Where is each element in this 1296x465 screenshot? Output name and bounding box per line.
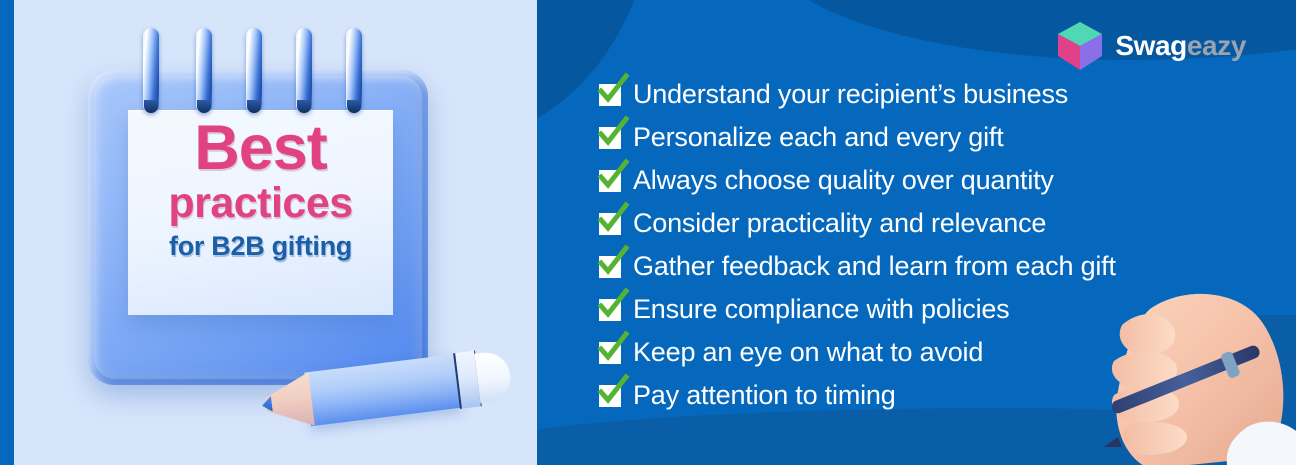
list-item-label: Gather feedback and learn from each gift (633, 253, 1116, 280)
green-checkmark-icon (599, 84, 621, 106)
notepad-title-block: Best practices for B2B gifting (128, 118, 393, 261)
brand-logo[interactable]: Swageazy (1056, 21, 1246, 71)
list-item: Understand your recipient’s business (599, 73, 1289, 116)
spiral-ring-icon (196, 28, 212, 113)
swageazy-cube-icon (1056, 21, 1104, 71)
title-line-1: Best (128, 118, 393, 180)
pencil-eraser (474, 350, 513, 404)
title-line-2: practices (128, 182, 393, 226)
list-item-label: Personalize each and every gift (633, 124, 1004, 151)
list-item-label: Understand your recipient’s business (633, 81, 1068, 108)
infographic-banner: Best practices for B2B gifting Swageaz (0, 0, 1296, 465)
green-checkmark-icon (599, 127, 621, 149)
spiral-ring-icon (143, 28, 159, 113)
list-item: Always choose quality over quantity (599, 159, 1289, 202)
brand-name-secondary: eazy (1187, 30, 1246, 61)
brand-name-primary: Swag (1115, 30, 1187, 61)
green-checkmark-icon (599, 256, 621, 278)
left-panel: Best practices for B2B gifting (0, 0, 537, 465)
green-checkmark-icon (599, 385, 621, 407)
green-checkmark-icon (599, 299, 621, 321)
right-panel: Swageazy Understand your recipient’s bus… (537, 0, 1296, 465)
green-checkmark-icon (599, 170, 621, 192)
spiral-ring-icon (346, 28, 362, 113)
list-item-label: Pay attention to timing (633, 382, 896, 409)
title-line-3: for B2B gifting (128, 232, 393, 262)
spiral-ring-icon (246, 28, 262, 113)
hand-holding-pen-icon (1092, 281, 1296, 465)
list-item: Consider practicality and relevance (599, 202, 1289, 245)
green-checkmark-icon (599, 342, 621, 364)
left-accent-stripe (0, 0, 14, 465)
spiral-ring-icon (296, 28, 312, 113)
green-checkmark-icon (599, 213, 621, 235)
notepad-illustration: Best practices for B2B gifting (88, 70, 428, 385)
list-item-label: Always choose quality over quantity (633, 167, 1054, 194)
list-item-label: Ensure compliance with policies (633, 296, 1009, 323)
list-item: Personalize each and every gift (599, 116, 1289, 159)
list-item-label: Keep an eye on what to avoid (633, 339, 983, 366)
list-item-label: Consider practicality and relevance (633, 210, 1046, 237)
brand-name: Swageazy (1115, 30, 1246, 62)
